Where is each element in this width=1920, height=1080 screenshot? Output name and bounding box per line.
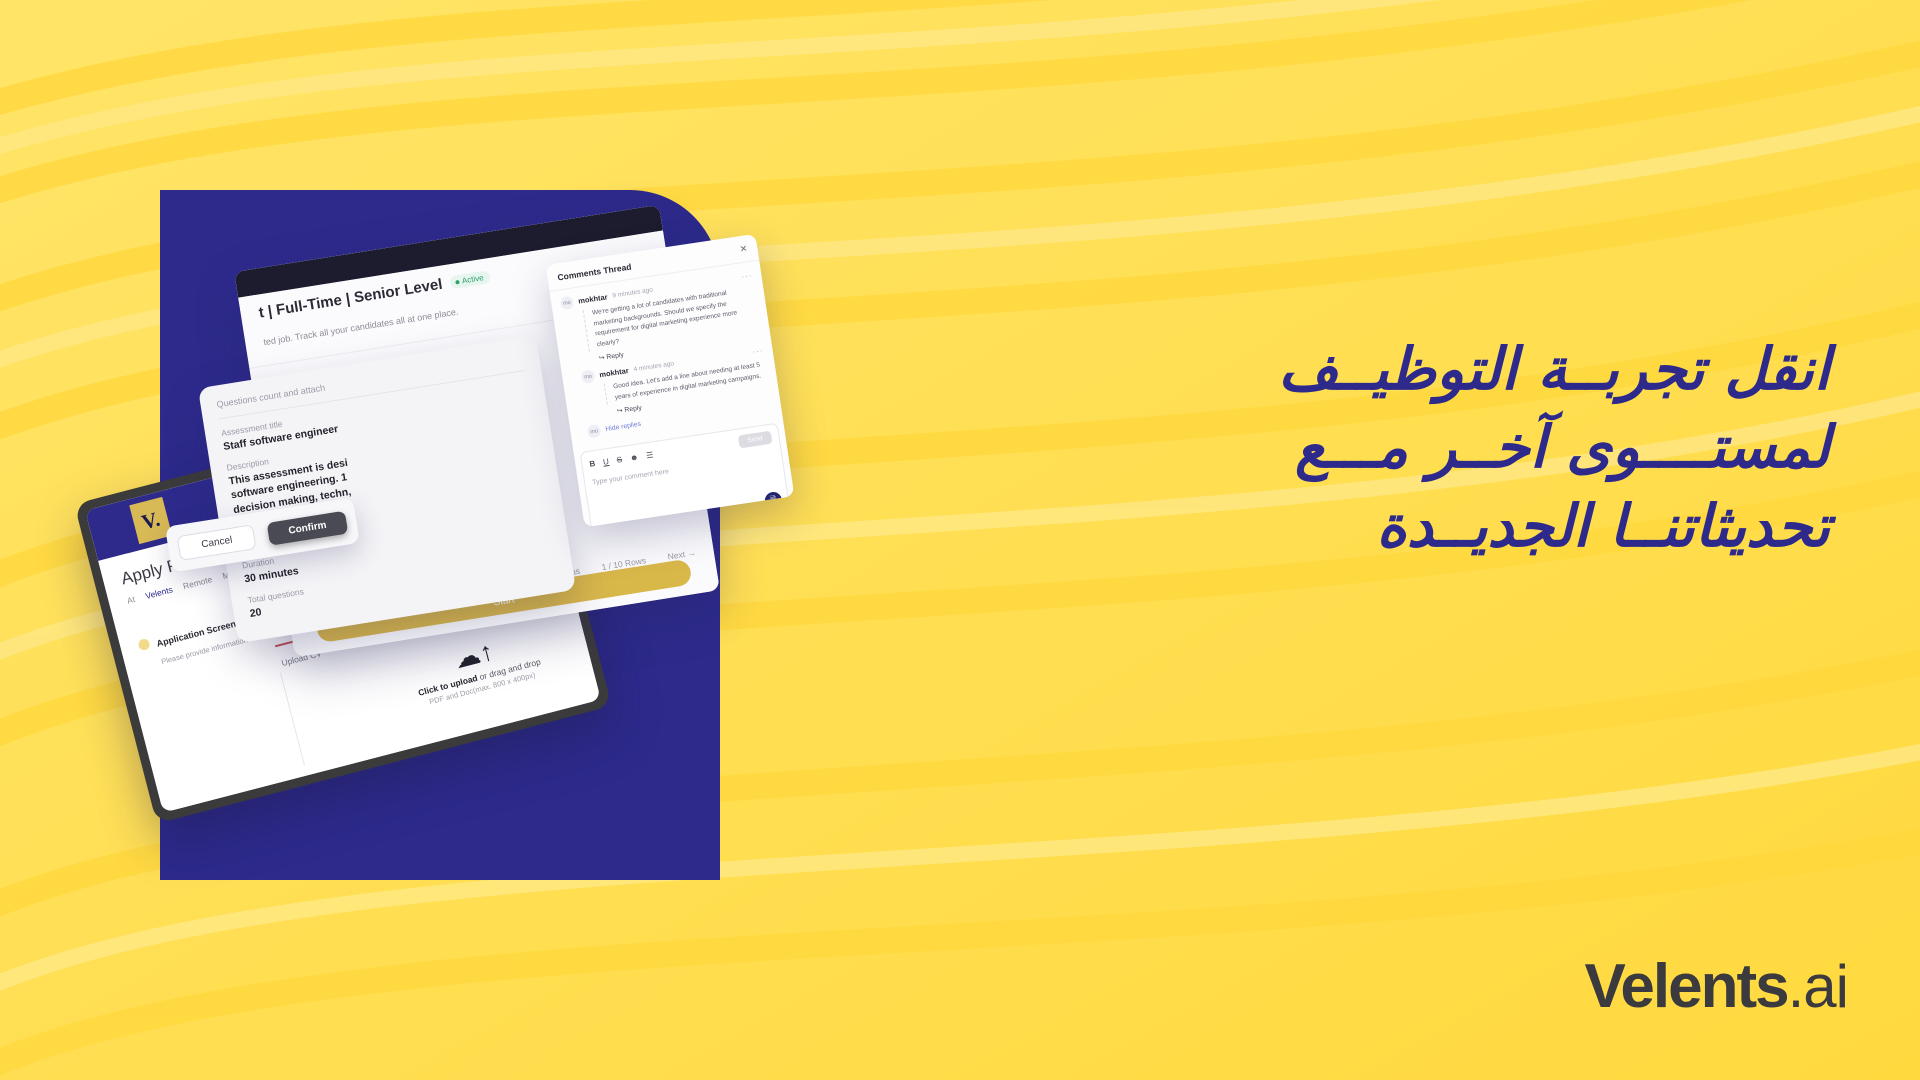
brand-logo: Velents .ai xyxy=(1585,951,1849,1022)
comments-list: mo mokhtar 9 minutes ago ··· We're getti… xyxy=(550,260,783,448)
avatar: mo xyxy=(587,424,602,439)
step-dot-icon xyxy=(137,638,150,651)
pagination-next[interactable]: Next → xyxy=(667,547,697,561)
list-icon[interactable]: ☰ xyxy=(646,450,654,460)
status-badge: Active xyxy=(449,270,491,289)
status-dot-icon xyxy=(455,279,460,284)
headline-line-2: لمستــــوى آخــر مـــع xyxy=(1060,408,1830,486)
send-button[interactable]: Send xyxy=(738,431,773,449)
reply-label: Reply xyxy=(624,405,642,414)
more-options-icon[interactable]: ··· xyxy=(741,271,753,282)
strikethrough-icon[interactable]: S xyxy=(616,455,623,465)
comment-author: mokhtar xyxy=(599,366,630,379)
comment-timestamp: 9 minutes ago xyxy=(612,287,653,300)
comments-title: Comments Thread xyxy=(557,261,632,282)
job-tag-0: At xyxy=(126,594,136,606)
avatar: mo xyxy=(560,295,575,310)
emoji-icon[interactable]: ☻ xyxy=(629,453,639,463)
brand-suffix: .ai xyxy=(1788,952,1848,1021)
reply-label: Reply xyxy=(606,352,624,361)
headline: انقل تجربــة التوظيــف لمستــــوى آخــر … xyxy=(1060,330,1830,565)
brand-name: Velents xyxy=(1585,951,1788,1022)
cancel-button[interactable]: Cancel xyxy=(177,524,257,561)
close-icon[interactable]: ✕ xyxy=(739,243,748,255)
bold-icon[interactable]: B xyxy=(589,459,596,469)
comments-panel: Comments Thread ✕ mo mokhtar 9 minutes a… xyxy=(546,234,795,527)
more-options-icon[interactable]: ··· xyxy=(752,346,764,357)
avatar: mo xyxy=(581,369,596,384)
job-tag-2: Remote xyxy=(182,574,213,591)
job-tag-1: Velents xyxy=(144,584,174,601)
comment-author: mokhtar xyxy=(578,292,609,305)
status-badge-label: Active xyxy=(461,273,484,285)
hide-replies-link[interactable]: Hide replies xyxy=(605,421,642,433)
headline-line-1: انقل تجربــة التوظيــف xyxy=(1060,330,1830,408)
headline-line-3: تحديثاتنــا الجديــدة xyxy=(1060,487,1830,565)
comment-timestamp: 4 minutes ago xyxy=(633,360,674,373)
confirm-button[interactable]: Confirm xyxy=(267,510,348,545)
underline-icon[interactable]: U xyxy=(602,457,609,467)
assessment-modal: Questions count and attach Assessment ti… xyxy=(198,335,576,643)
